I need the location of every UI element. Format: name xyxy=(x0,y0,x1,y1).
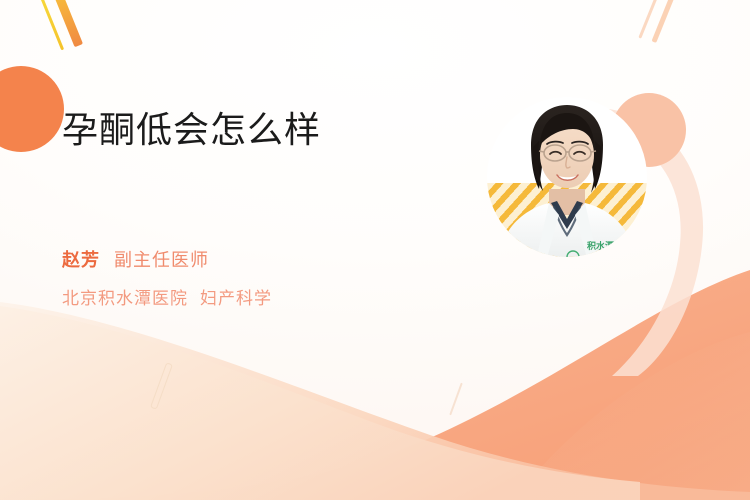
svg-text:积水潭: 积水潭 xyxy=(587,240,614,251)
video-cover-card: 积水潭 孕酮低会怎么样 赵芳 副主任医师 北京积水潭医院 妇产科学 xyxy=(0,0,750,500)
doctor-name: 赵芳 xyxy=(62,246,100,272)
doctor-name-row: 赵芳 副主任医师 xyxy=(62,246,482,272)
title-block: 孕酮低会怎么样 xyxy=(62,108,482,152)
portrait-illustration: 积水潭 xyxy=(487,97,647,277)
doctor-title: 副主任医师 xyxy=(114,246,209,272)
doctor-portrait: 积水潭 xyxy=(487,97,647,277)
doctor-hospital: 北京积水潭医院 xyxy=(62,284,188,309)
doctor-info-block: 赵芳 副主任医师 北京积水潭医院 妇产科学 xyxy=(62,246,482,309)
page-title: 孕酮低会怎么样 xyxy=(62,108,482,152)
doctor-hospital-row: 北京积水潭医院 妇产科学 xyxy=(62,284,482,309)
doctor-department: 妇产科学 xyxy=(200,284,272,309)
